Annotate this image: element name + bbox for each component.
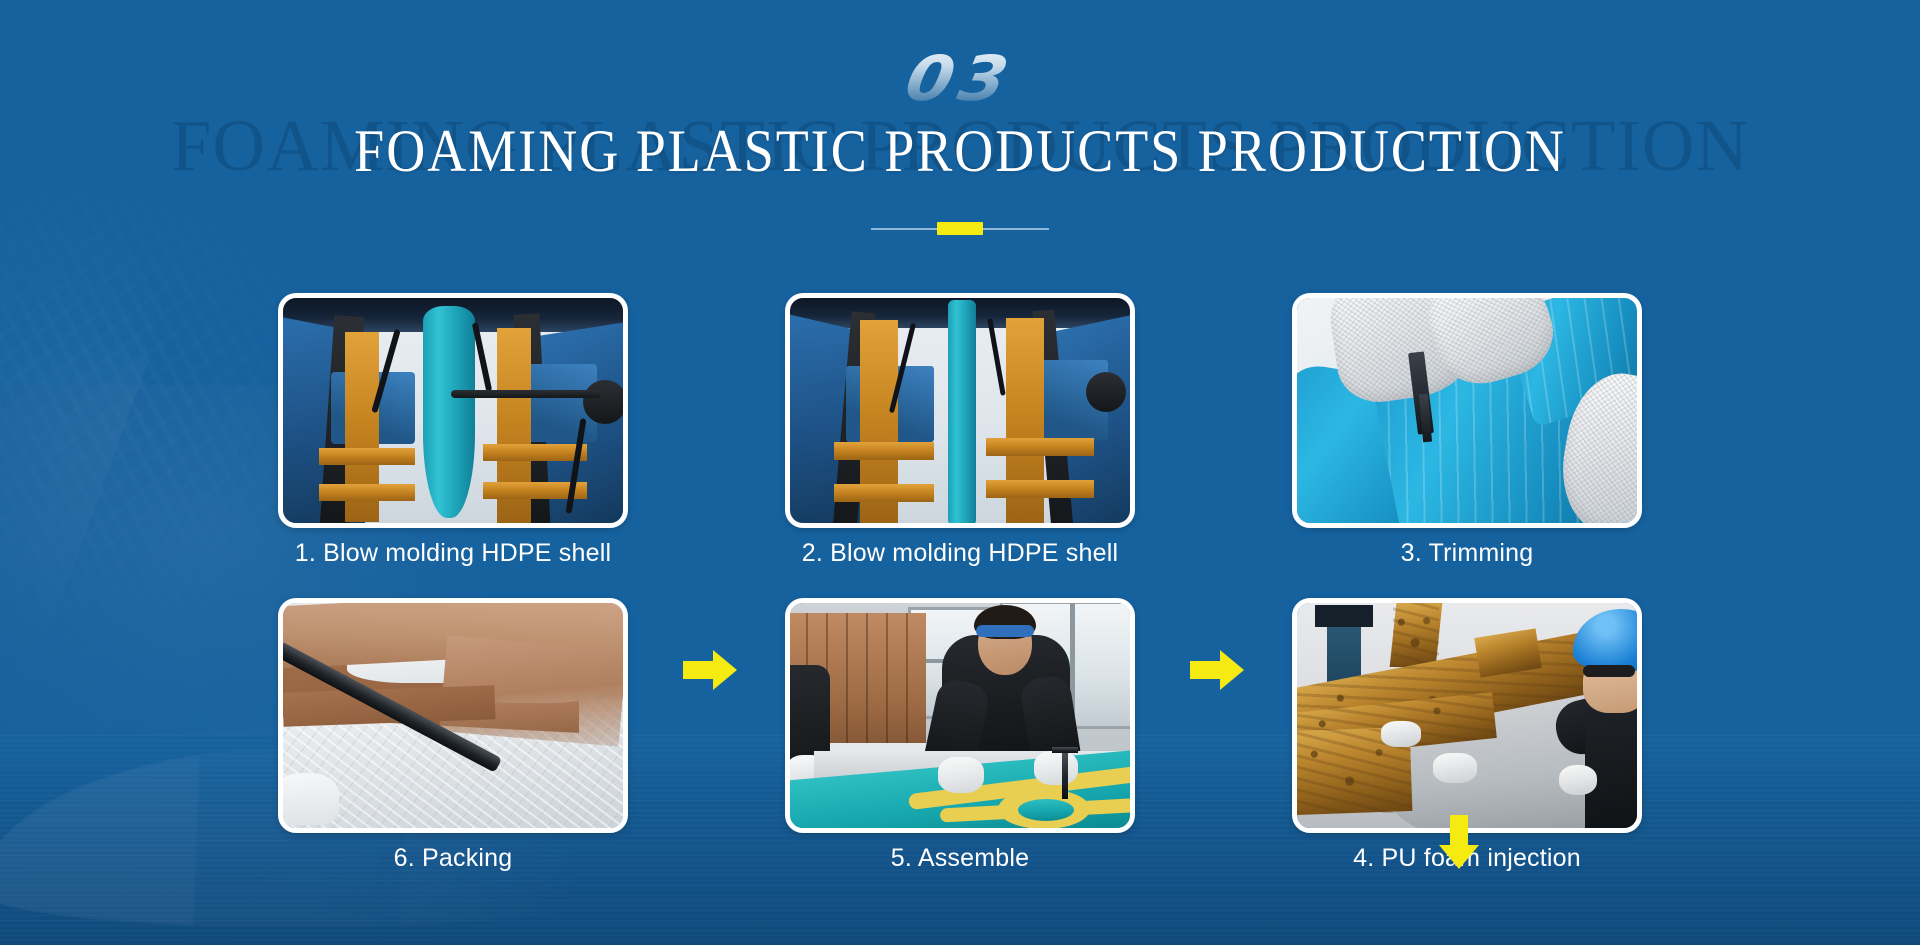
step-4-image-frame — [1292, 598, 1642, 833]
step-6-caption: 6. Packing — [278, 844, 628, 873]
step-card-6[interactable]: 6. Packing — [278, 598, 628, 873]
step-2-image-frame — [785, 293, 1135, 528]
step-3-photo — [1297, 298, 1637, 523]
step-6-image-frame — [278, 598, 628, 833]
arrow-step1-to-step2 — [683, 648, 737, 692]
step-5-photo — [790, 603, 1130, 828]
step-1-photo — [283, 298, 623, 523]
arrow-step3-to-step4 — [1437, 815, 1481, 869]
step-3-caption: 3. Trimming — [1292, 539, 1642, 568]
arrow-step2-to-step3 — [1190, 648, 1244, 692]
step-card-5[interactable]: 5. Assemble — [785, 598, 1135, 873]
header: 03 FOAMING PLASTIC PRODUCTS PRODUCTION F… — [0, 0, 1920, 250]
process-flow: 1. Blow molding HDPE shell — [0, 255, 1920, 895]
step-5-caption: 5. Assemble — [785, 844, 1135, 873]
step-5-image-frame — [785, 598, 1135, 833]
step-1-image-frame — [278, 293, 628, 528]
step-1-caption: 1. Blow molding HDPE shell — [278, 539, 628, 568]
step-2-caption: 2. Blow molding HDPE shell — [785, 539, 1135, 568]
step-6-photo — [283, 603, 623, 828]
step-card-2[interactable]: 2. Blow molding HDPE shell — [785, 293, 1135, 568]
step-3-image-frame — [1292, 293, 1642, 528]
step-card-3[interactable]: 3. Trimming — [1292, 293, 1642, 568]
title-divider — [871, 222, 1049, 236]
section-number-badge: 03 — [0, 48, 1920, 110]
step-card-1[interactable]: 1. Blow molding HDPE shell — [278, 293, 628, 568]
step-4-photo — [1297, 603, 1637, 828]
step-2-photo — [790, 298, 1130, 523]
page-title: FOAMING PLASTIC PRODUCTS PRODUCTION — [0, 116, 1920, 185]
divider-accent-block — [937, 222, 983, 235]
